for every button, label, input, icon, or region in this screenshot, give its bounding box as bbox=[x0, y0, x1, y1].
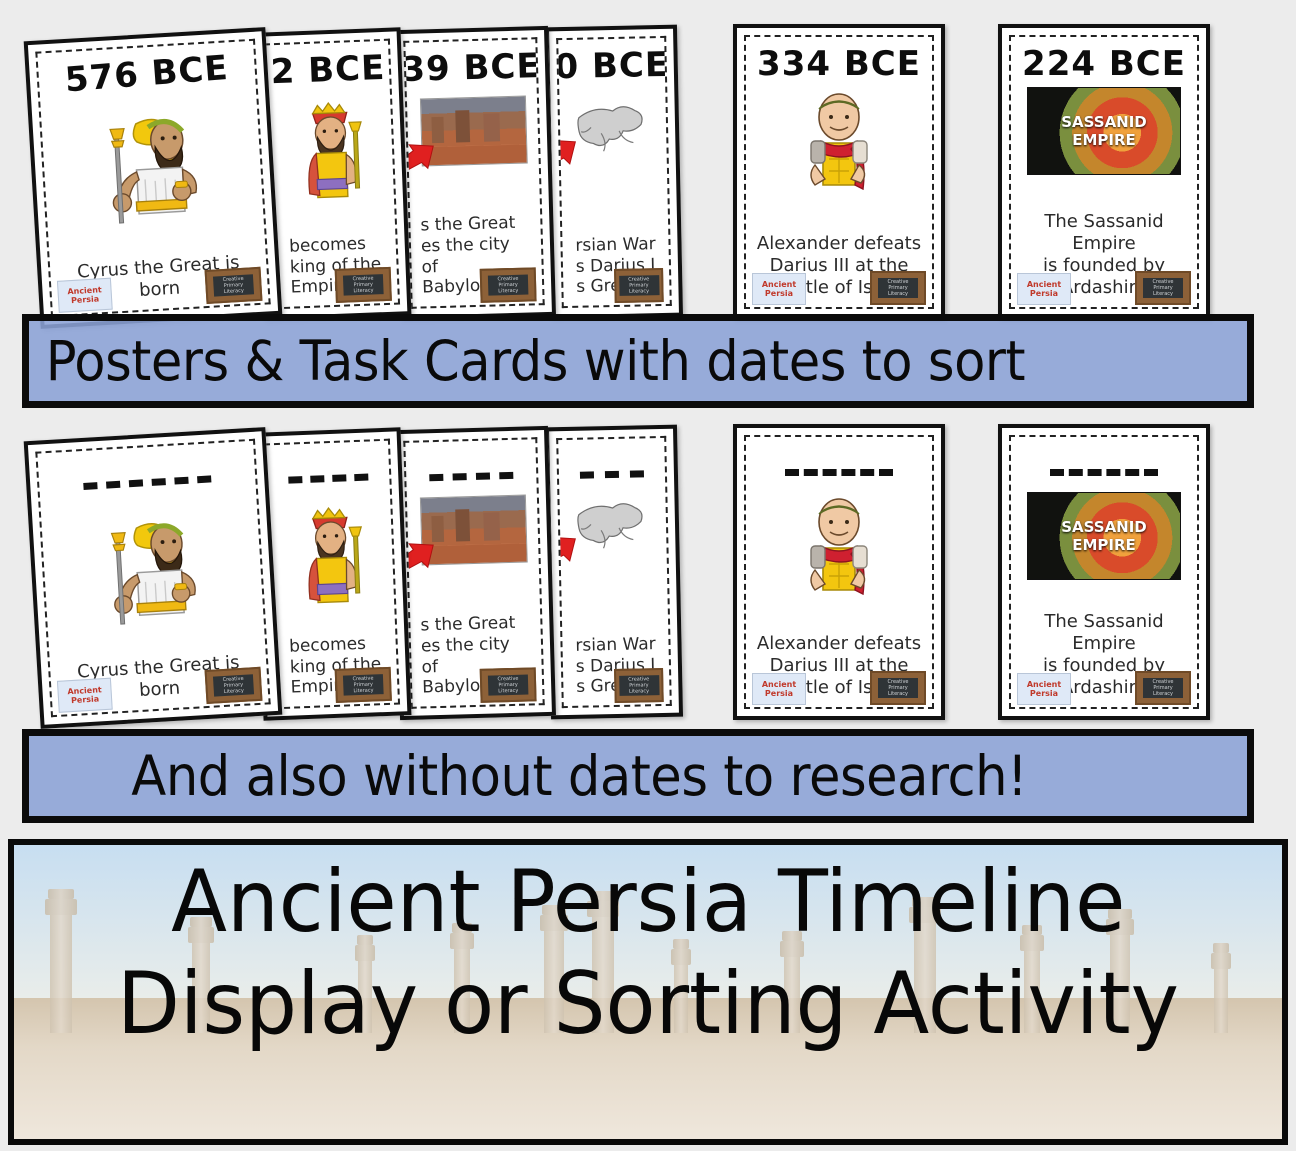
card-date: 2 BCE bbox=[270, 51, 386, 89]
title-line-1: Ancient Persia Timeline bbox=[171, 859, 1125, 947]
task-card-dated-4[interactable]: 0 BCE rsian War s Darius I s Greece bbox=[545, 25, 683, 320]
card-caption: Alexander defeats Darius III at the Batt… bbox=[755, 633, 923, 699]
undated-banner: And also without dates to research! bbox=[22, 729, 1254, 823]
sassanid-map-label-2: EMPIRE bbox=[1072, 536, 1136, 554]
dated-banner: Posters & Task Cards with dates to sort bbox=[22, 314, 1254, 408]
card-caption: s the Great es the city of Babylon bbox=[418, 612, 534, 698]
product-cover: 224 BCE SASSANID EMPIRE The Sassanid Emp… bbox=[0, 0, 1296, 1151]
card-caption: Cyrus the Great is born bbox=[75, 652, 244, 706]
title-line-2: Display or Sorting Activity bbox=[117, 961, 1179, 1049]
persian-warrior-figure-icon bbox=[85, 498, 220, 629]
greece-map-photo-icon bbox=[566, 493, 659, 555]
sassanid-empire-map-icon: SASSANID EMPIRE bbox=[1027, 492, 1181, 580]
card-date: 576 BCE bbox=[64, 51, 230, 97]
card-date: 0 BCE bbox=[556, 48, 669, 84]
task-card-undated-3[interactable]: s the Great es the city of Babylon Creat… bbox=[392, 426, 556, 720]
task-card-dated-6[interactable]: 224 BCE SASSANID EMPIRE The Sassanid Emp… bbox=[998, 24, 1210, 320]
title-banner: Ancient Persia Timeline Display or Sorti… bbox=[8, 839, 1288, 1145]
card-caption: s the Great es the city of Babylon bbox=[418, 212, 534, 298]
greece-map-photo-icon bbox=[566, 96, 659, 158]
sassanid-map-label-2: EMPIRE bbox=[1072, 131, 1136, 149]
persian-warrior-figure-icon bbox=[84, 93, 219, 228]
card-caption: Alexander defeats Darius III at the Batt… bbox=[755, 233, 923, 299]
task-card-undated-4[interactable]: rsian War s Darius I s Greece Creative P… bbox=[545, 425, 683, 720]
task-card-undated-5[interactable]: Alexander defeats Darius III at the Batt… bbox=[733, 424, 945, 720]
babylon-ruins-photo-icon bbox=[420, 495, 526, 564]
card-caption: The Sassanid Empire is founded by Ardash… bbox=[1019, 211, 1189, 299]
task-card-undated-1[interactable]: Cyrus the Great is born Ancient Persia C… bbox=[24, 427, 283, 729]
card-caption: The Sassanid Empire is founded by Ardash… bbox=[1019, 611, 1189, 699]
sassanid-map-label-1: SASSANID bbox=[1061, 518, 1147, 536]
card-date: 224 BCE bbox=[1022, 47, 1186, 81]
card-caption: rsian War s Darius I s Greece bbox=[573, 234, 659, 298]
task-card-dated-5[interactable]: 334 BCE bbox=[733, 24, 945, 320]
alexander-figure-icon bbox=[793, 492, 885, 598]
task-card-undated-6[interactable]: SASSANID EMPIRE The Sassanid Empire is f… bbox=[998, 424, 1210, 720]
persian-king-figure-icon bbox=[286, 91, 376, 206]
sassanid-map-label-1: SASSANID bbox=[1061, 113, 1147, 131]
card-date: 334 BCE bbox=[757, 47, 921, 81]
card-caption: becomes king of the Empire bbox=[287, 233, 385, 299]
card-caption: Cyrus the Great is born bbox=[75, 252, 244, 306]
card-date: 39 BCE bbox=[403, 49, 541, 87]
babylon-ruins-photo-icon bbox=[420, 96, 526, 165]
blank-date-line bbox=[429, 472, 514, 481]
card-caption: becomes king of the Empire bbox=[287, 633, 385, 699]
blank-date-line bbox=[83, 475, 211, 490]
sassanid-empire-map-icon: SASSANID EMPIRE bbox=[1027, 87, 1181, 175]
dated-banner-text: Posters & Task Cards with dates to sort bbox=[29, 329, 1025, 393]
page-title: Ancient Persia Timeline Display or Sorti… bbox=[14, 859, 1282, 1048]
card-caption: rsian War s Darius I s Greece bbox=[573, 634, 659, 698]
persian-king-figure-icon bbox=[286, 496, 376, 611]
alexander-figure-icon bbox=[793, 87, 885, 193]
blank-date-line bbox=[288, 474, 369, 484]
undated-banner-text: And also without dates to research! bbox=[29, 744, 1027, 808]
blank-date-line bbox=[579, 470, 644, 478]
task-card-dated-1[interactable]: 576 BCE bbox=[24, 27, 283, 329]
blank-date-line bbox=[1050, 469, 1159, 476]
blank-date-line bbox=[785, 469, 894, 476]
task-card-dated-3[interactable]: 39 BCE s the Great es the bbox=[392, 26, 556, 320]
